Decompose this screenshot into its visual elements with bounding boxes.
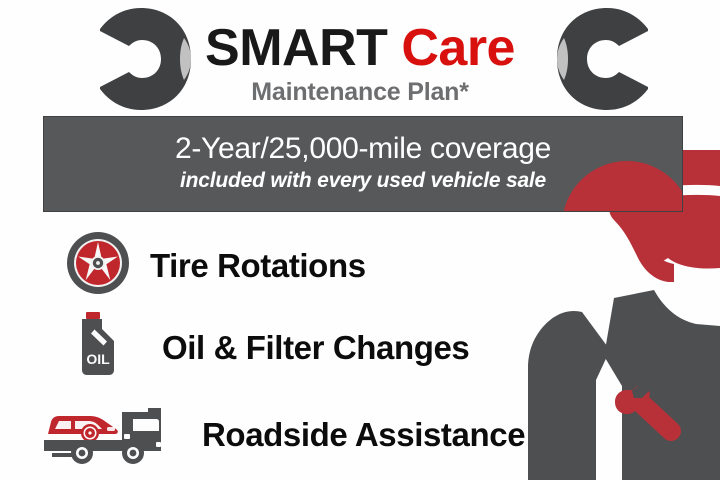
smart-care-maintenance-plan-graphic: SMART Care Maintenance Plan* 2-Year/25,0… xyxy=(0,0,720,480)
banner-text-block: 2-Year/25,000-mile coverage included wit… xyxy=(44,131,682,194)
logo-text-block: SMART Care Maintenance Plan* xyxy=(0,0,720,106)
brand-title: SMART Care xyxy=(0,20,720,76)
brand-primary: SMART xyxy=(205,19,387,77)
header: SMART Care Maintenance Plan* xyxy=(0,0,720,118)
oil-bottle-text: OIL xyxy=(86,351,110,367)
coverage-banner: 2-Year/25,000-mile coverage included wit… xyxy=(43,116,683,212)
feature-label: Roadside Assistance xyxy=(202,416,525,454)
tow-truck-icon xyxy=(38,396,178,473)
feature-row: Roadside Assistance xyxy=(38,396,525,473)
feature-label: Tire Rotations xyxy=(150,247,366,285)
gray-coveralls-right xyxy=(604,290,720,480)
page-subtitle: Maintenance Plan* xyxy=(0,78,720,106)
feature-label: Oil & Filter Changes xyxy=(162,329,469,367)
oil-bottle-icon: OIL xyxy=(72,312,124,383)
coverage-subline: included with every used vehicle sale xyxy=(44,168,682,194)
brand-secondary: Care xyxy=(401,19,515,77)
gray-coveralls-left xyxy=(528,311,610,480)
coverage-headline: 2-Year/25,000-mile coverage xyxy=(44,131,682,167)
feature-row: Tire Rotations xyxy=(66,231,366,300)
tire-wheel-icon xyxy=(66,231,130,300)
feature-row: OIL Oil & Filter Changes xyxy=(72,312,469,383)
